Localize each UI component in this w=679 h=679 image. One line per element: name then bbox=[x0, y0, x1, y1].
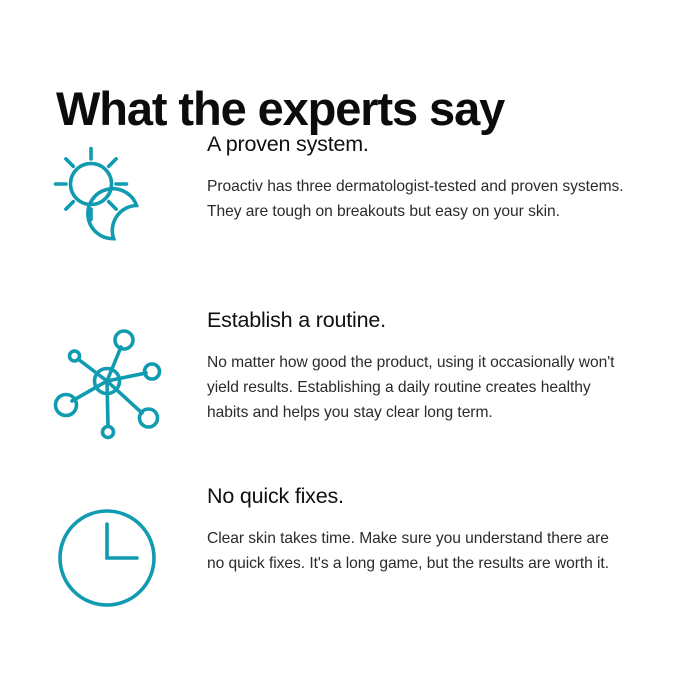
feature-body: A proven system. Proactiv has three derm… bbox=[207, 132, 627, 224]
list-item: Establish a routine. No matter how good … bbox=[0, 308, 679, 460]
expert-tips-panel: What the experts say bbox=[0, 0, 679, 679]
page-title: What the experts say bbox=[56, 84, 504, 133]
feature-text: No matter how good the product, using it… bbox=[207, 350, 627, 426]
feature-body: No quick fixes. Clear skin takes time. M… bbox=[207, 484, 627, 576]
feature-heading: No quick fixes. bbox=[207, 484, 627, 510]
feature-body: Establish a routine. No matter how good … bbox=[207, 308, 627, 426]
sun-and-moon-icon bbox=[50, 140, 170, 260]
feature-text: Clear skin takes time. Make sure you und… bbox=[207, 526, 627, 577]
feature-heading: Establish a routine. bbox=[207, 308, 627, 334]
clock-icon bbox=[50, 496, 170, 616]
network-hub-icon bbox=[50, 322, 170, 442]
list-item: A proven system. Proactiv has three derm… bbox=[0, 132, 679, 284]
list-item: No quick fixes. Clear skin takes time. M… bbox=[0, 484, 679, 634]
feature-list: A proven system. Proactiv has three derm… bbox=[0, 132, 679, 658]
feature-heading: A proven system. bbox=[207, 132, 627, 158]
feature-text: Proactiv has three dermatologist-tested … bbox=[207, 174, 627, 225]
